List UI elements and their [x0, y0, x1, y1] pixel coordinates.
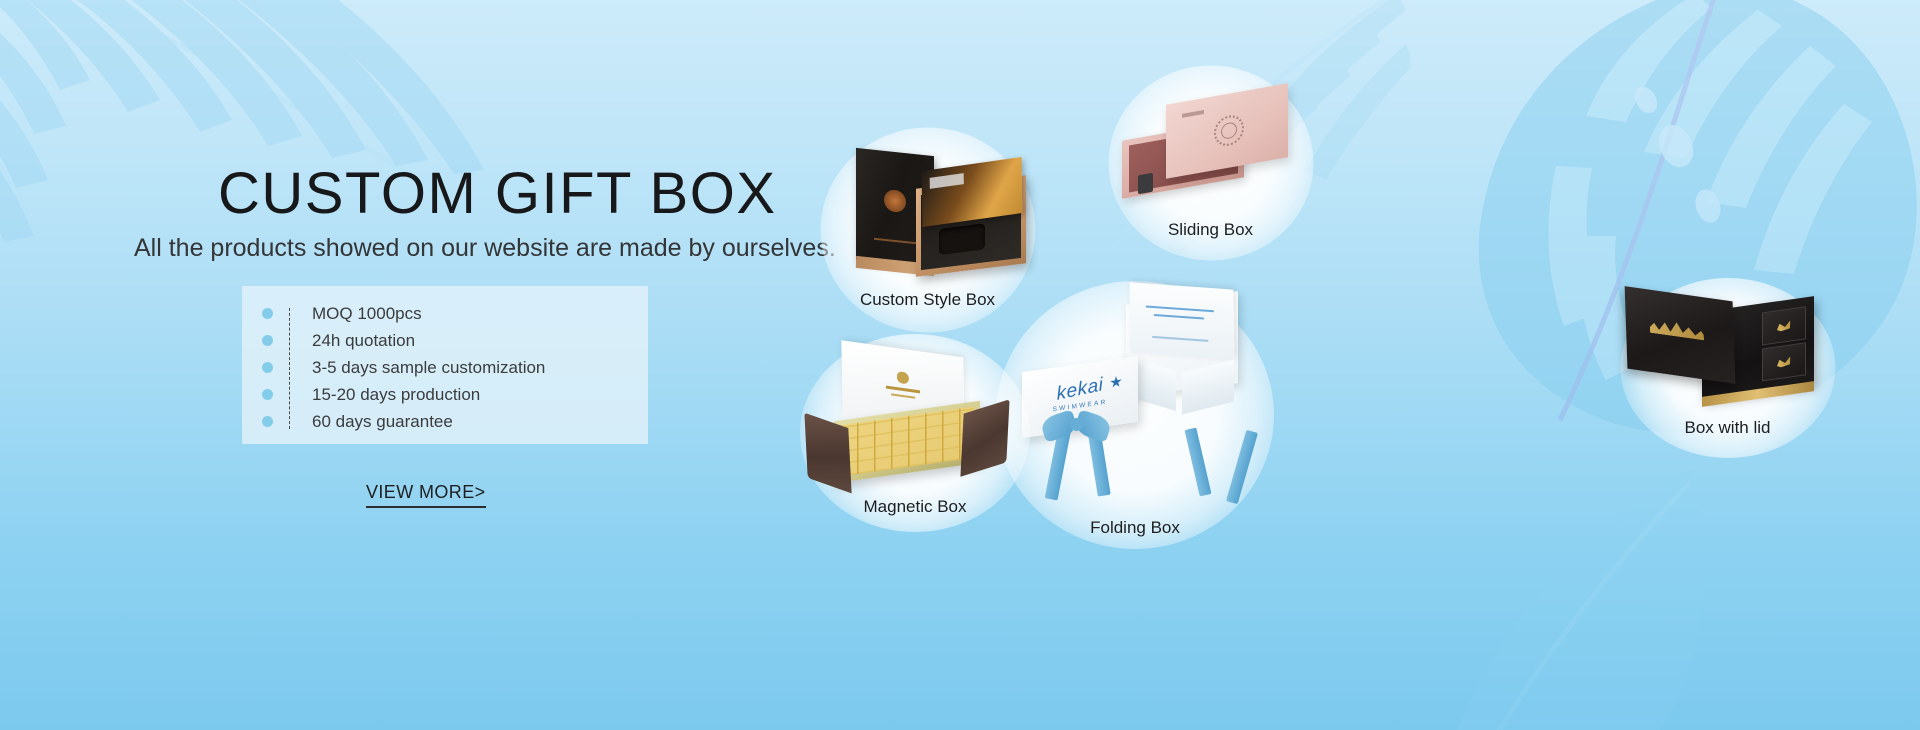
ribbon-icon: [1185, 428, 1212, 497]
list-item: 60 days guarantee: [242, 408, 648, 435]
feature-label: MOQ 1000pcs: [312, 304, 422, 324]
product-caption: Folding Box: [1090, 518, 1180, 538]
brand-emblem-icon: [1214, 113, 1244, 148]
product-sliding-box[interactable]: Sliding Box: [1108, 68, 1313, 258]
product-caption: Sliding Box: [1168, 220, 1253, 240]
bullet-icon: [262, 308, 273, 319]
pull-tab-icon: [1138, 173, 1153, 195]
inner-message-text: [1146, 303, 1222, 330]
leaf-watermark-icon: [1390, 430, 1820, 730]
gold-foil-logo-icon: [1650, 318, 1704, 341]
feature-label: 15-20 days production: [312, 385, 480, 405]
banner-subtitle: All the products showed on our website a…: [134, 234, 836, 263]
list-item: MOQ 1000pcs: [242, 300, 648, 327]
folding-box-image: kekai SWIMWEAR: [1000, 280, 1270, 550]
feature-label: 24h quotation: [312, 331, 415, 351]
list-item: 24h quotation: [242, 327, 648, 354]
page-title: CUSTOM GIFT BOX: [218, 160, 777, 227]
feature-panel: MOQ 1000pcs 24h quotation 3-5 days sampl…: [242, 286, 648, 444]
brand-crest-icon: [883, 370, 923, 402]
view-more-link[interactable]: VIEW MORE>: [366, 482, 486, 508]
product-box-with-lid[interactable]: Box with lid: [1620, 280, 1835, 455]
feature-list: MOQ 1000pcs 24h quotation 3-5 days sampl…: [242, 300, 648, 435]
bullet-icon: [262, 335, 273, 346]
hero-banner: CUSTOM GIFT BOX All the products showed …: [0, 0, 1920, 730]
product-magnetic-box[interactable]: Magnetic Box: [800, 335, 1030, 530]
bow-knot-icon: [1070, 418, 1083, 431]
product-caption: Custom Style Box: [860, 290, 995, 310]
banner-text-column: CUSTOM GIFT BOX All the products showed …: [0, 0, 830, 730]
divider-grid: [840, 407, 974, 477]
bullet-icon: [262, 362, 273, 373]
bullet-icon: [262, 416, 273, 427]
product-folding-box[interactable]: kekai SWIMWEAR Folding Box: [1000, 280, 1270, 550]
ribbon-icon: [1226, 430, 1258, 504]
list-item: 15-20 days production: [242, 381, 648, 408]
feature-label: 60 days guarantee: [312, 412, 453, 432]
product-caption: Magnetic Box: [864, 497, 967, 517]
bullet-icon: [262, 389, 273, 400]
star-icon: [1110, 375, 1122, 389]
feature-label: 3-5 days sample customization: [312, 358, 545, 378]
product-caption: Box with lid: [1685, 418, 1771, 438]
list-item: 3-5 days sample customization: [242, 354, 648, 381]
